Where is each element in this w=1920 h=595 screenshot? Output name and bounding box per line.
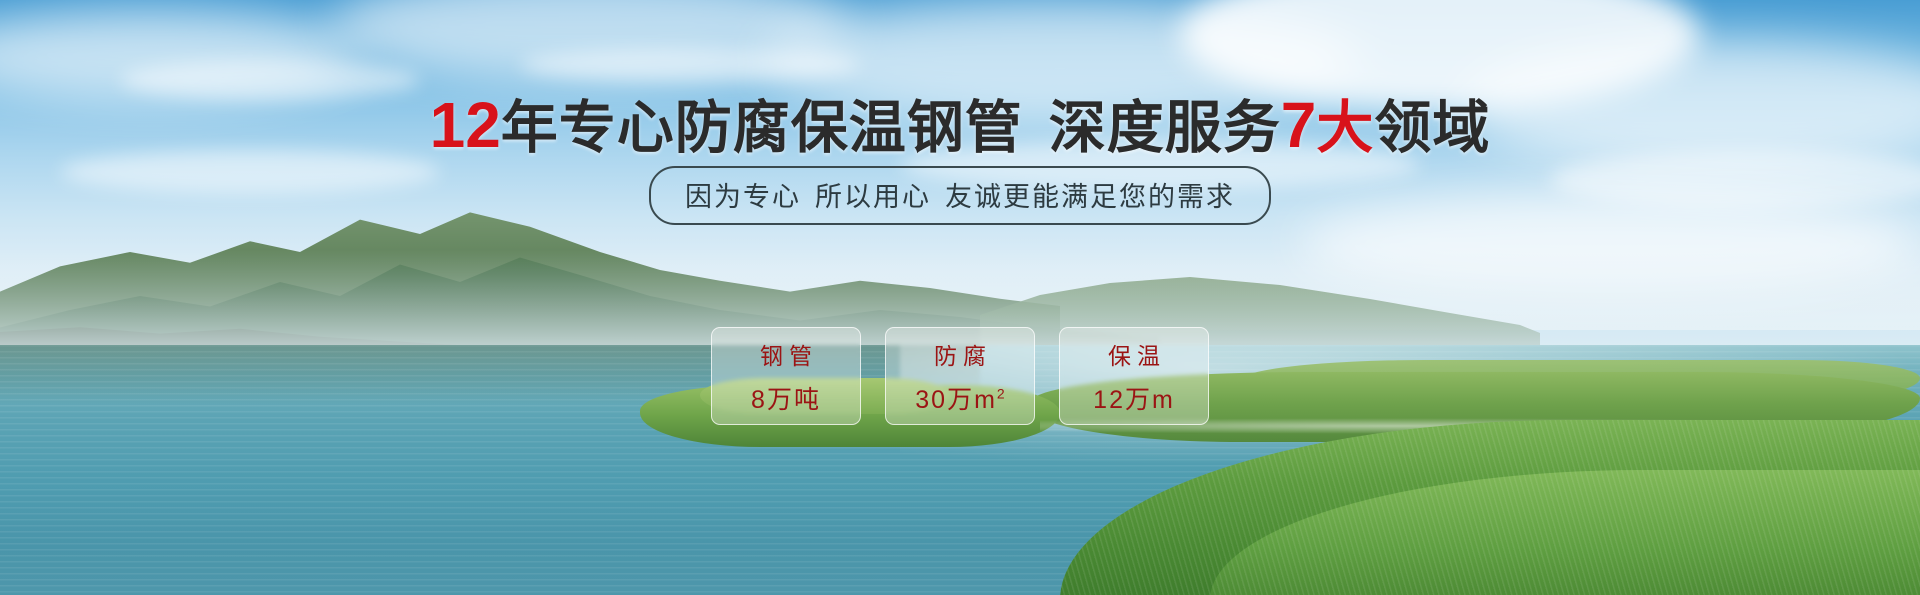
stat-card-title: 防腐 (928, 337, 992, 371)
stat-card-value: 8万吨 (751, 380, 821, 416)
banner-subtitle-pill: 因为专心所以用心友诚更能满足您的需求 (649, 166, 1271, 225)
subtitle-segment-3: 友诚更能满足您的需求 (945, 182, 1235, 212)
subtitle-segment-2: 所以用心 (815, 182, 931, 212)
subtitle-segment-1: 因为专心 (685, 182, 801, 212)
stat-card-value: 30万m2 (915, 380, 1004, 416)
stat-card-value-text: 12万m (1093, 386, 1175, 414)
stat-card-value-superscript: 2 (997, 385, 1005, 401)
banner-content: 12年专心防腐保温钢管深度服务7大领域 因为专心所以用心友诚更能满足您的需求 钢… (0, 0, 1920, 595)
headline-fields-char: 大 (1316, 96, 1374, 160)
stat-card-value-text: 30万m (915, 386, 997, 414)
stat-card-title: 钢管 (754, 337, 818, 371)
stat-card: 钢管 8万吨 (711, 327, 861, 425)
stat-card: 保温 12万m (1059, 327, 1209, 425)
hero-banner: 12年专心防腐保温钢管深度服务7大领域 因为专心所以用心友诚更能满足您的需求 钢… (0, 0, 1920, 595)
headline-part-three: 领域 (1374, 96, 1490, 160)
headline-part-two: 深度服务 (1049, 96, 1281, 160)
headline-part-one: 年专心防腐保温钢管 (501, 96, 1023, 160)
stat-card-value: 12万m (1093, 380, 1175, 416)
banner-headline: 12年专心防腐保温钢管深度服务7大领域 (0, 82, 1920, 164)
stat-card-title: 保温 (1102, 337, 1166, 371)
banner-subtitle-wrap: 因为专心所以用心友诚更能满足您的需求 (0, 166, 1920, 225)
stat-card-value-text: 8万吨 (751, 386, 821, 414)
stat-card: 防腐 30万m2 (885, 327, 1035, 425)
headline-years-number: 12 (430, 89, 501, 161)
stat-card-group: 钢管 8万吨 防腐 30万m2 保温 12万m (0, 327, 1920, 425)
headline-fields-number: 7 (1281, 89, 1317, 161)
